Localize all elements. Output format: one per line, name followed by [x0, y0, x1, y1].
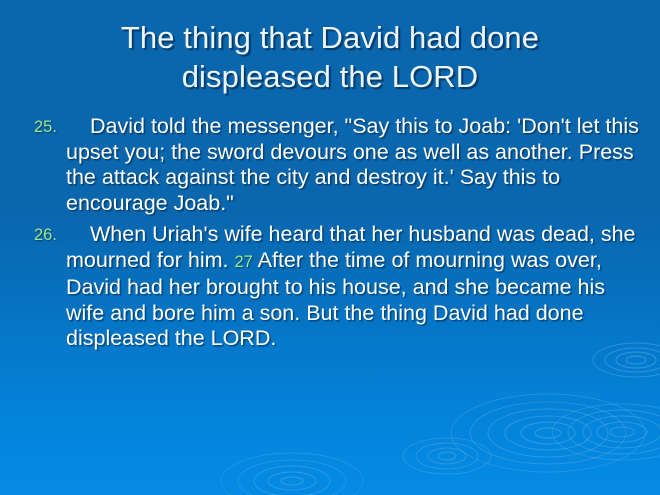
inline-verse-number-27: 27: [234, 253, 252, 271]
verse-marker-26: 26.: [34, 224, 57, 246]
verse-marker-25: 25.: [34, 116, 57, 138]
slide-title: The thing that David had done displeased…: [0, 18, 660, 96]
slide-body: 25. David told the messenger, "Say this …: [30, 114, 640, 358]
verse-paragraph-26: 26. When Uriah's wife heard that her hus…: [30, 222, 640, 352]
presentation-slide: The thing that David had done displeased…: [0, 0, 660, 495]
slide-title-line-2: displeased the LORD: [28, 57, 632, 96]
verse-text-25: David told the messenger, "Say this to J…: [66, 114, 639, 215]
slide-title-line-1: The thing that David had done: [28, 18, 632, 57]
verse-paragraph-25: 25. David told the messenger, "Say this …: [30, 114, 640, 216]
